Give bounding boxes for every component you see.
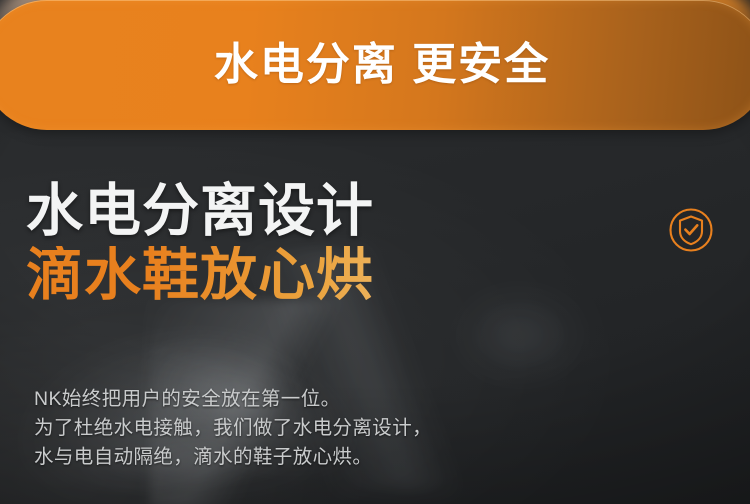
headline-block: 水电分离设计 滴水鞋放心烘 [26, 182, 586, 306]
body-line: NK始终把用户的安全放在第一位。 [34, 385, 724, 414]
body-paragraph: NK始终把用户的安全放在第一位。 为了杜绝水电接触，我们做了水电分离设计， 水与… [34, 385, 724, 472]
shield-check-icon [668, 207, 714, 253]
product-feature-poster: 水电分离 更安全 水电分离设计 滴水鞋放心烘 NK始终把用户的安全放在第一位。 … [0, 0, 750, 504]
headline-line-primary: 水电分离设计 [26, 182, 586, 241]
banner: 水电分离 更安全 [0, 0, 750, 132]
headline-line-secondary: 滴水鞋放心烘 [26, 246, 586, 305]
body-line: 为了杜绝水电接触，我们做了水电分离设计， [34, 414, 724, 443]
body-line: 水与电自动隔绝，滴水的鞋子放心烘。 [34, 443, 724, 472]
banner-title: 水电分离 更安全 [200, 43, 550, 87]
banner-pill: 水电分离 更安全 [0, 0, 750, 130]
